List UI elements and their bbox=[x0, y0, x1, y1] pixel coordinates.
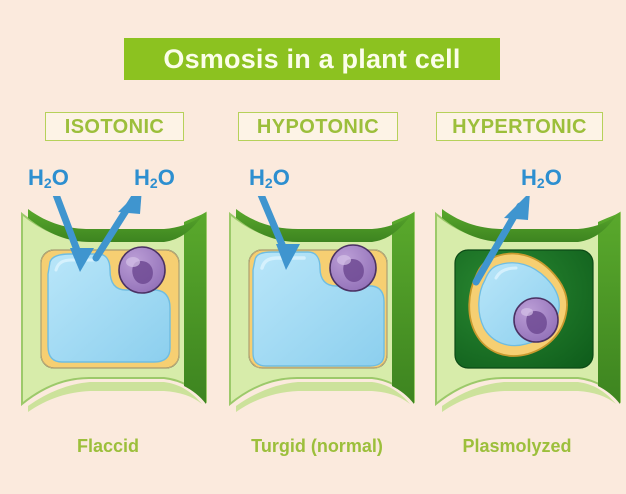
water-formula-o: O bbox=[273, 165, 290, 190]
plant-cell-turgid bbox=[222, 196, 422, 428]
diagram-canvas: Osmosis in a plant cell ISOTONIC HYPOTON… bbox=[0, 0, 626, 494]
water-formula-o: O bbox=[545, 165, 562, 190]
plant-cell-plasmolyzed bbox=[428, 196, 626, 428]
caption-plasmolyzed: Plasmolyzed bbox=[422, 437, 612, 455]
tonicity-label-isotonic: ISOTONIC bbox=[45, 112, 184, 141]
cell-wall-right bbox=[184, 212, 206, 404]
water-formula-subscript: 2 bbox=[537, 175, 545, 191]
caption-turgid: Turgid (normal) bbox=[222, 437, 412, 455]
cell-wall-bottom-band bbox=[236, 382, 410, 412]
title-banner: Osmosis in a plant cell bbox=[124, 38, 500, 80]
tonicity-label-hypotonic: HYPOTONIC bbox=[238, 112, 398, 141]
water-label-hypertonic-out: H2O bbox=[521, 167, 562, 190]
cell-wall-bottom-band bbox=[442, 382, 616, 412]
water-formula-subscript: 2 bbox=[44, 175, 52, 191]
tonicity-label-hypertonic: HYPERTONIC bbox=[436, 112, 603, 141]
water-formula-h: H bbox=[249, 165, 265, 190]
water-formula-o: O bbox=[52, 165, 69, 190]
page-title: Osmosis in a plant cell bbox=[163, 46, 460, 73]
water-formula-h: H bbox=[521, 165, 537, 190]
tonicity-label-text: HYPERTONIC bbox=[452, 117, 587, 137]
cell-wall-right bbox=[392, 212, 414, 404]
nucleus-highlight bbox=[337, 255, 351, 265]
water-label-isotonic-in: H2O bbox=[28, 167, 69, 190]
tonicity-label-text: ISOTONIC bbox=[65, 117, 165, 137]
water-formula-subscript: 2 bbox=[265, 175, 273, 191]
caption-flaccid: Flaccid bbox=[13, 437, 203, 455]
water-formula-o: O bbox=[158, 165, 175, 190]
cell-wall-bottom-band bbox=[28, 382, 202, 412]
water-formula-h: H bbox=[134, 165, 150, 190]
cell-wall-right bbox=[598, 212, 620, 404]
nucleus-highlight bbox=[126, 257, 140, 267]
water-formula-h: H bbox=[28, 165, 44, 190]
plant-cell-flaccid bbox=[14, 196, 214, 428]
water-label-hypotonic-in: H2O bbox=[249, 167, 290, 190]
water-formula-subscript: 2 bbox=[150, 175, 158, 191]
nucleus-highlight bbox=[521, 308, 533, 316]
tonicity-label-text: HYPOTONIC bbox=[257, 117, 379, 137]
water-label-isotonic-out: H2O bbox=[134, 167, 175, 190]
